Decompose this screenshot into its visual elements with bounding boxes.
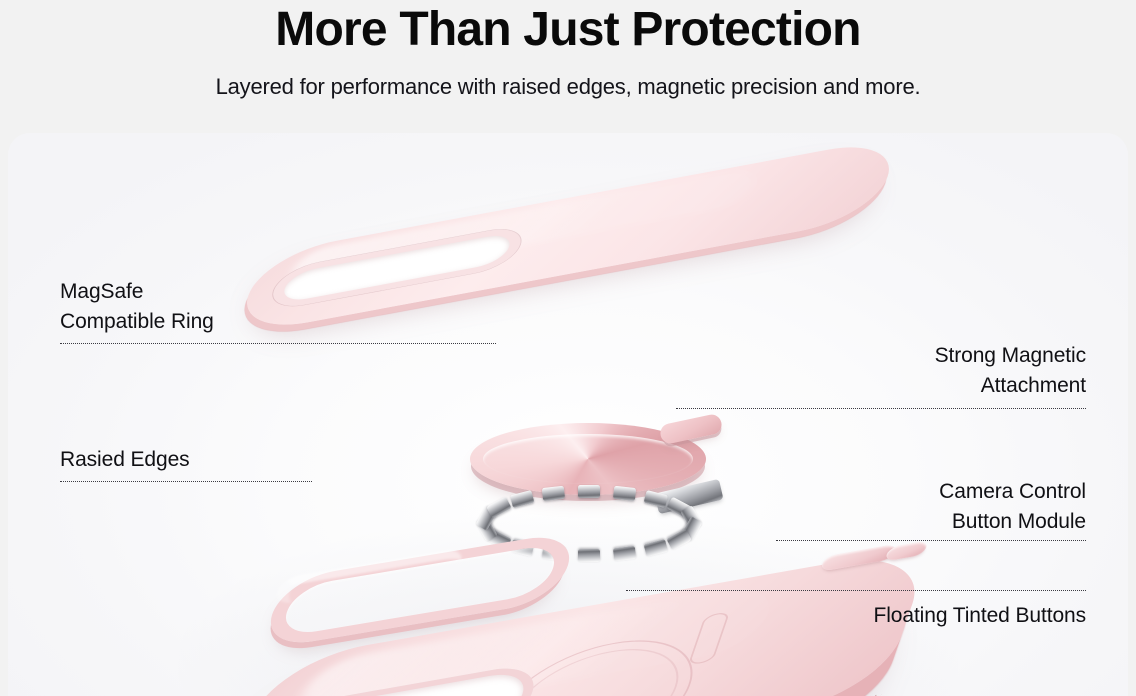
magnet-segment: [510, 489, 535, 507]
magnet-segment: [486, 496, 512, 518]
page-subtitle: Layered for performance with raised edge…: [0, 72, 1136, 102]
magsafe-ring-alignment-tab: [659, 413, 724, 445]
callout-raised-edges-label: Rasied Edges: [60, 445, 390, 475]
magsafe-ring-highlight: [483, 434, 693, 484]
callout-raised-edges-leader: [60, 481, 312, 482]
callout-floating-buttons-leader: [626, 590, 1086, 591]
callout-floating-buttons-label: Floating Tinted Buttons: [686, 601, 1086, 631]
callout-magsafe-ring-label: MagSafe Compatible Ring: [60, 277, 390, 337]
callout-magnetic-attachment-leader: [676, 408, 1086, 409]
callout-magnetic-attachment-label: Strong Magnetic Attachment: [746, 341, 1086, 401]
callout-magsafe-ring-leader: [60, 343, 496, 344]
magnet-segment: [644, 538, 669, 556]
magnet-segment: [613, 545, 636, 560]
magnet-segment: [578, 485, 600, 498]
magnet-segment: [542, 485, 565, 500]
magnet-segment: [613, 485, 636, 500]
header: More Than Just Protection Layered for pe…: [0, 0, 1136, 102]
callout-camera-control-leader: [776, 540, 1086, 541]
magnet-segment: [578, 549, 600, 562]
volume-down-button-module: [884, 540, 928, 561]
page-title: More Than Just Protection: [0, 2, 1136, 58]
callout-camera-control-label: Camera Control Button Module: [746, 477, 1086, 537]
